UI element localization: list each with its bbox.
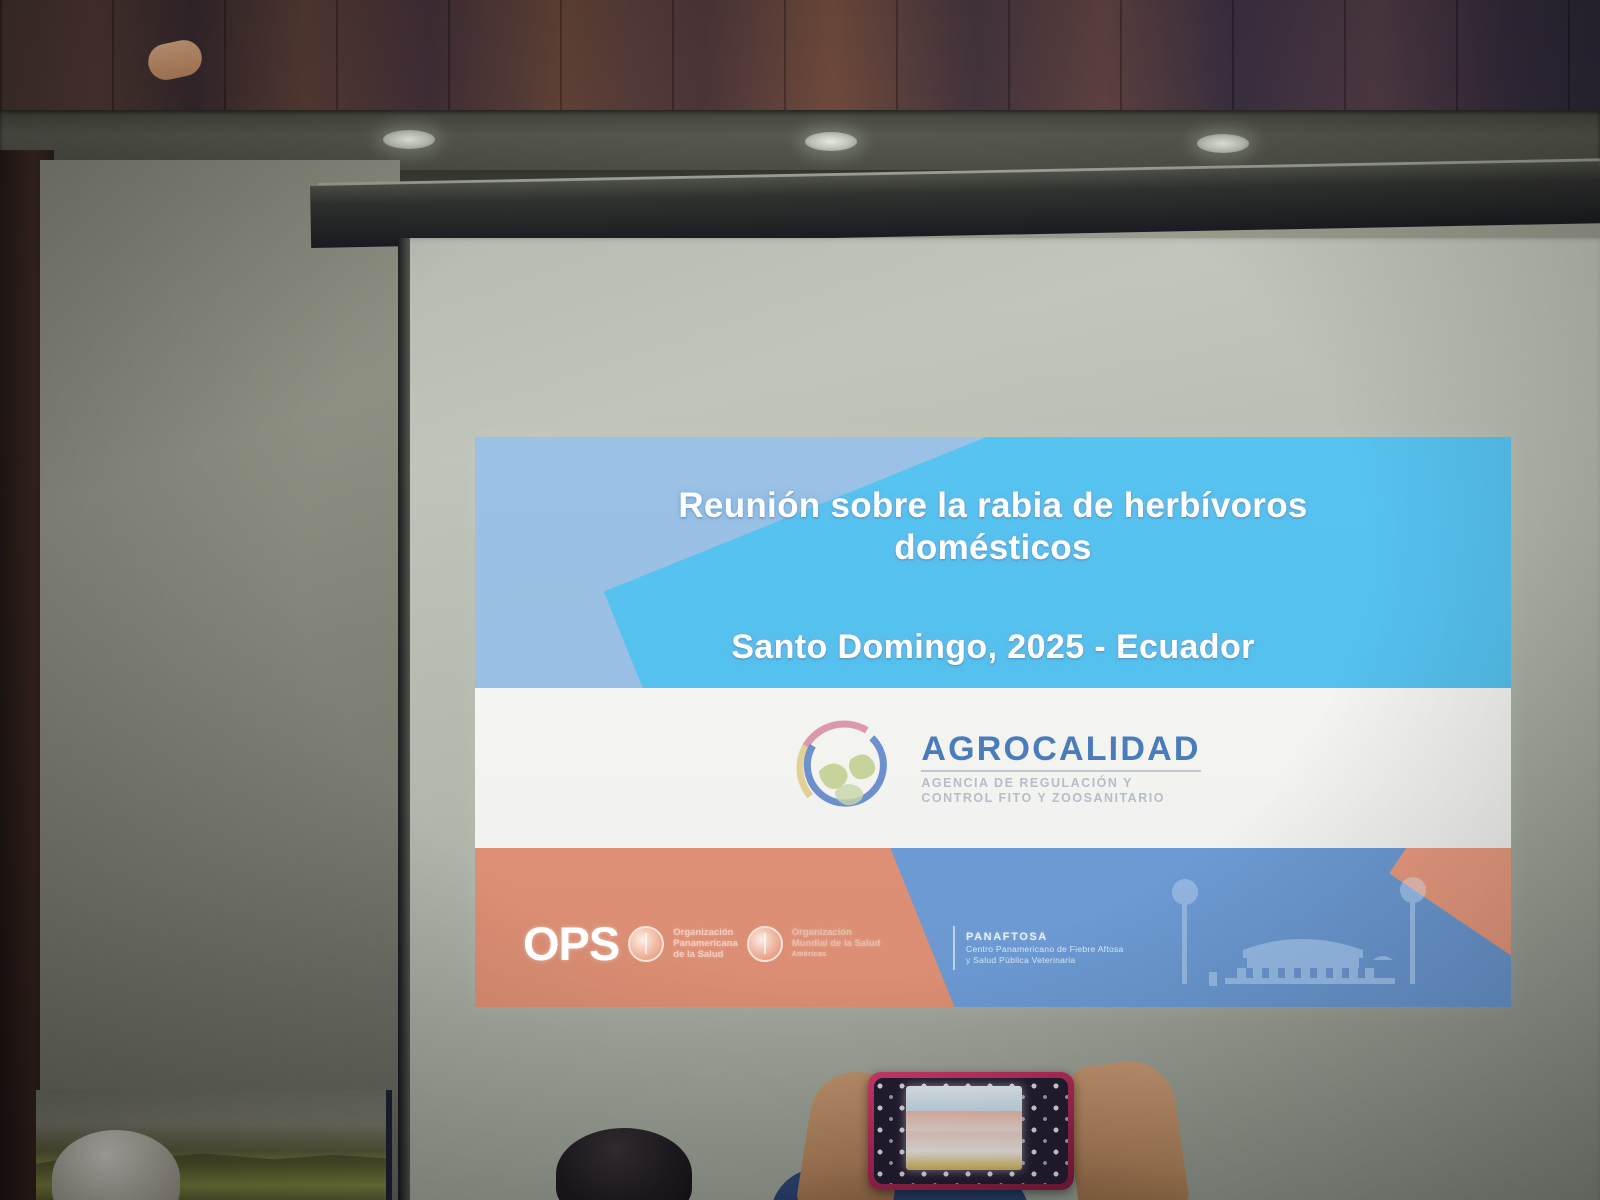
panaftosa-divider	[953, 926, 955, 970]
slide-title-line-2: domésticos	[475, 527, 1511, 569]
wood-ceiling	[0, 0, 1600, 112]
photo-scene: Reunión sobre la rabia de herbívoros dom…	[0, 0, 1600, 1200]
paho-line-1: Organización	[673, 927, 737, 938]
smartphone-screen[interactable]	[906, 1086, 1022, 1170]
agrocalidad-subtitle-1: AGENCIA DE REGULACIÓN Y	[921, 776, 1200, 791]
left-wall-panel	[40, 160, 400, 1200]
slide-logo-band: AGROCALIDAD AGENCIA DE REGULACIÓN Y CONT…	[475, 688, 1511, 848]
downlight-1	[383, 130, 435, 149]
smartphone-case[interactable]	[868, 1072, 1074, 1190]
who-seal-icon	[747, 926, 783, 962]
paho-wordmark: Organización Panamericana de la Salud	[673, 927, 737, 960]
slide-footer-band: OPS Organización Panamericana de la Salu…	[475, 848, 1511, 1007]
who-line-1: Organización	[792, 927, 881, 938]
agrocalidad-rule	[921, 770, 1200, 772]
agrocalidad-name: AGROCALIDAD	[921, 731, 1200, 767]
downlight-3	[1197, 134, 1249, 153]
conference-room: Reunión sobre la rabia de herbívoros dom…	[0, 0, 1600, 1200]
agrocalidad-subtitle-2: CONTROL FITO Y ZOOSANITARIO	[921, 791, 1200, 806]
ops-acronym: OPS	[523, 920, 619, 967]
agrocalidad-wordmark: AGROCALIDAD AGENCIA DE REGULACIÓN Y CONT…	[921, 731, 1200, 806]
agrocalidad-logo-icon	[785, 709, 903, 827]
panaftosa-line-2: y Salud Pública Veterinaria	[966, 955, 1124, 966]
panaftosa-logo: PANAFTOSA Centro Panamericano de Fiebre …	[953, 926, 1124, 970]
paho-seal-icon	[628, 926, 664, 962]
ops-logo: OPS Organización Panamericana de la Salu…	[523, 920, 880, 967]
panaftosa-line-1: Centro Panamericano de Fiebre Aftosa	[966, 944, 1124, 955]
skyline-watermark-icon	[1151, 854, 1451, 1006]
smartphone-screen-reflection	[906, 1111, 1022, 1131]
who-region: Américas	[792, 949, 881, 960]
paho-line-2: Panamericana	[673, 938, 737, 949]
paho-line-3: de la Salud	[673, 949, 737, 960]
who-line-2: Mundial de la Salud	[792, 938, 881, 949]
downlight-2	[805, 132, 857, 151]
slide-title-block: Reunión sobre la rabia de herbívoros dom…	[475, 485, 1511, 667]
projected-slide: Reunión sobre la rabia de herbívoros dom…	[475, 437, 1511, 1007]
who-wordmark: Organización Mundial de la Salud América…	[792, 927, 881, 960]
slide-subtitle: Santo Domingo, 2025 - Ecuador	[475, 627, 1511, 667]
panaftosa-wordmark: PANAFTOSA Centro Panamericano de Fiebre …	[966, 926, 1124, 970]
panaftosa-name: PANAFTOSA	[966, 930, 1124, 944]
slide-title-line-1: Reunión sobre la rabia de herbívoros	[475, 485, 1511, 527]
projection-screen-left-edge	[398, 238, 410, 1200]
slide-top-band: Reunión sobre la rabia de herbívoros dom…	[475, 437, 1511, 688]
